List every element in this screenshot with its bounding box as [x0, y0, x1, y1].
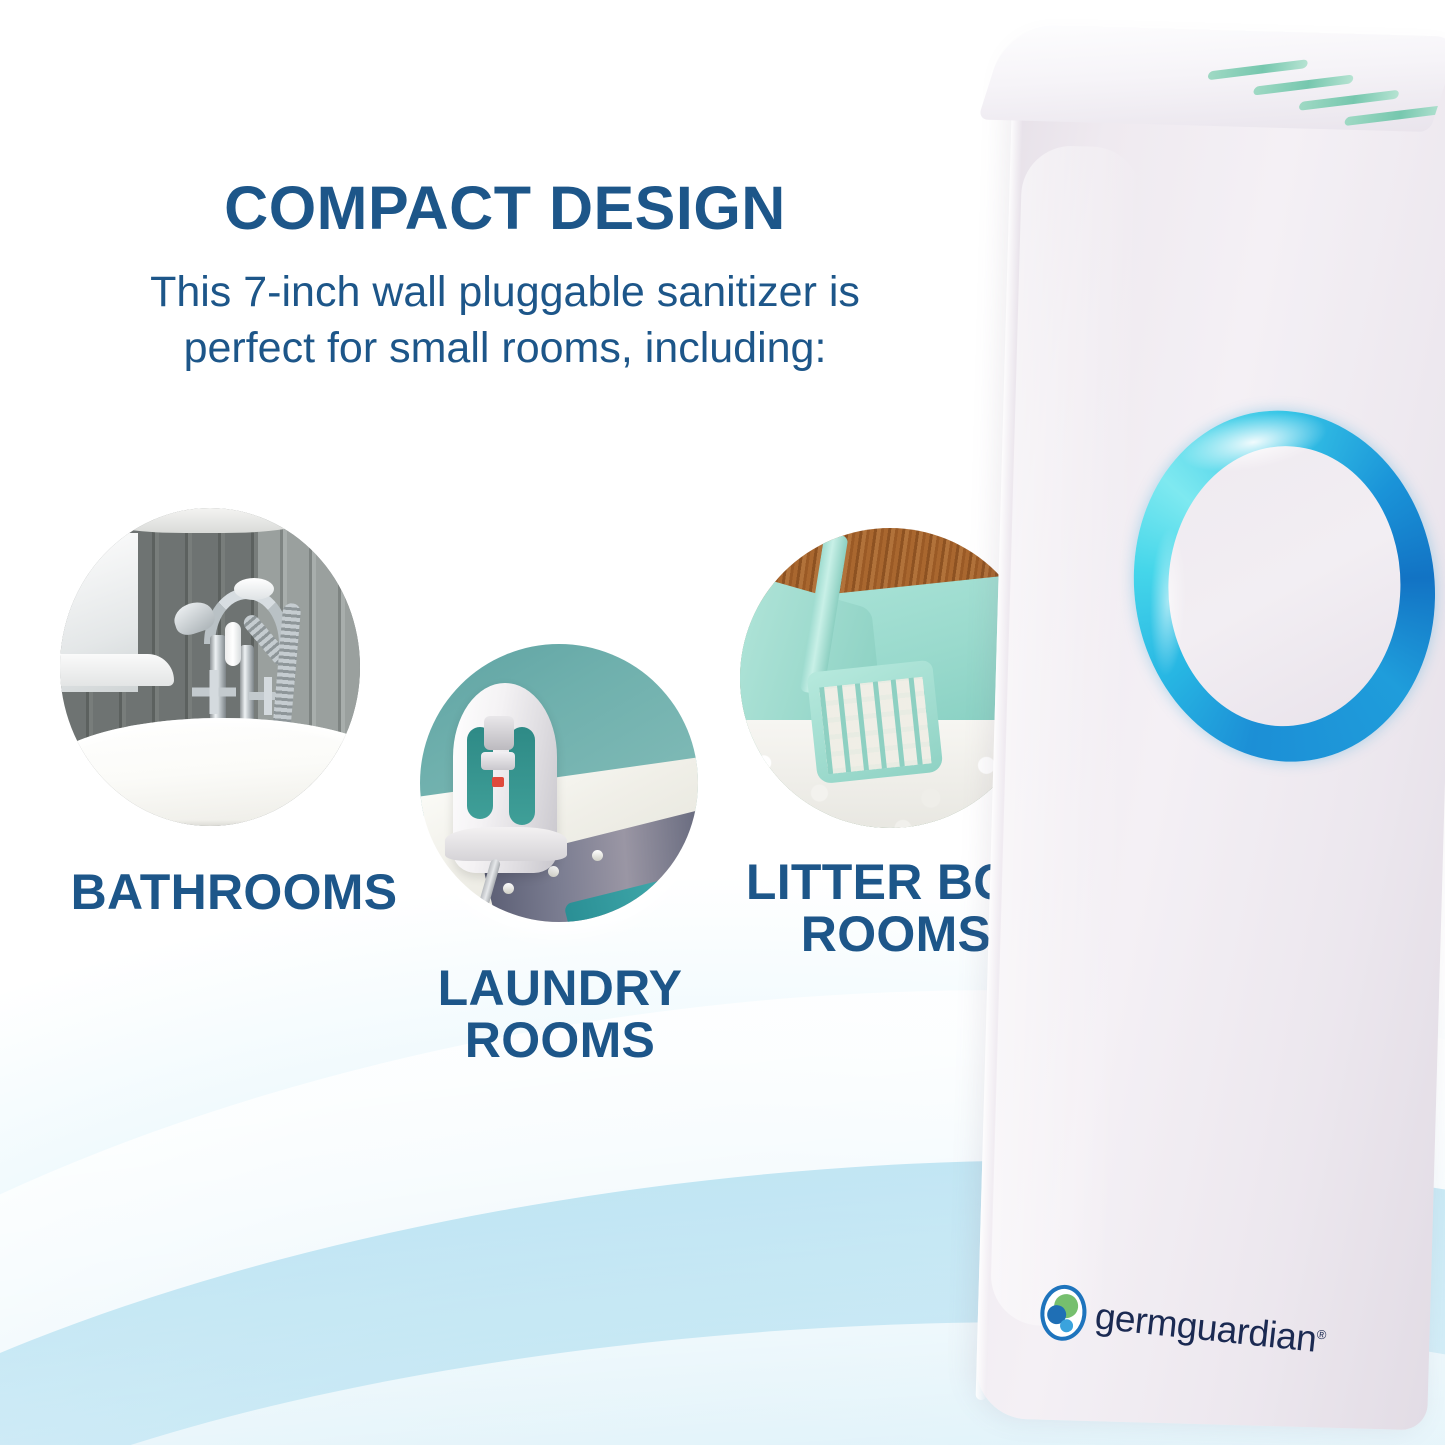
iron-soleplate	[445, 827, 567, 861]
light-ring-indicator	[1130, 406, 1440, 766]
germguardian-logo-icon	[1038, 1283, 1090, 1344]
litter-scoop-grid	[819, 676, 931, 774]
top-air-vent	[1344, 105, 1445, 126]
iron-slider-control	[481, 752, 515, 770]
bathroom-ledge	[60, 654, 174, 686]
bathroom-ceiling	[108, 508, 300, 533]
faucet-cross-handle-left	[192, 670, 236, 714]
air-sanitizer-device: germguardian®	[961, 24, 1445, 1437]
iron-indicator-light	[492, 777, 504, 787]
litter-scoop-head	[806, 660, 943, 785]
device-top-face	[978, 24, 1445, 132]
faucet-top-knob	[234, 578, 274, 600]
laundry-room-photo	[420, 644, 698, 922]
registered-trademark-symbol: ®	[1316, 1327, 1327, 1343]
bathroom-photo	[60, 508, 360, 826]
top-air-vent	[1207, 59, 1308, 80]
page-title: COMPACT DESIGN	[0, 178, 1010, 239]
laundry-photo-content	[420, 644, 698, 922]
product-marketing-image: COMPACT DESIGN This 7-inch wall pluggabl…	[0, 0, 1445, 1445]
top-air-vent	[1298, 90, 1399, 111]
headline-block: COMPACT DESIGN This 7-inch wall pluggabl…	[0, 178, 1010, 377]
page-subtitle: This 7-inch wall pluggable sanitizer is …	[0, 265, 1010, 377]
bathtub-shadow	[60, 820, 360, 826]
faucet-handle	[225, 622, 241, 666]
iron-steam-knob	[484, 716, 514, 750]
top-air-vent	[1253, 74, 1354, 95]
room-label-laundry-rooms: LAUNDRY ROOMS	[400, 962, 720, 1066]
room-label-bathrooms: BATHROOMS	[44, 866, 424, 918]
logo-dot-light-blue	[1059, 1319, 1073, 1333]
bathroom-photo-content	[60, 508, 360, 826]
bathtub	[60, 718, 360, 826]
